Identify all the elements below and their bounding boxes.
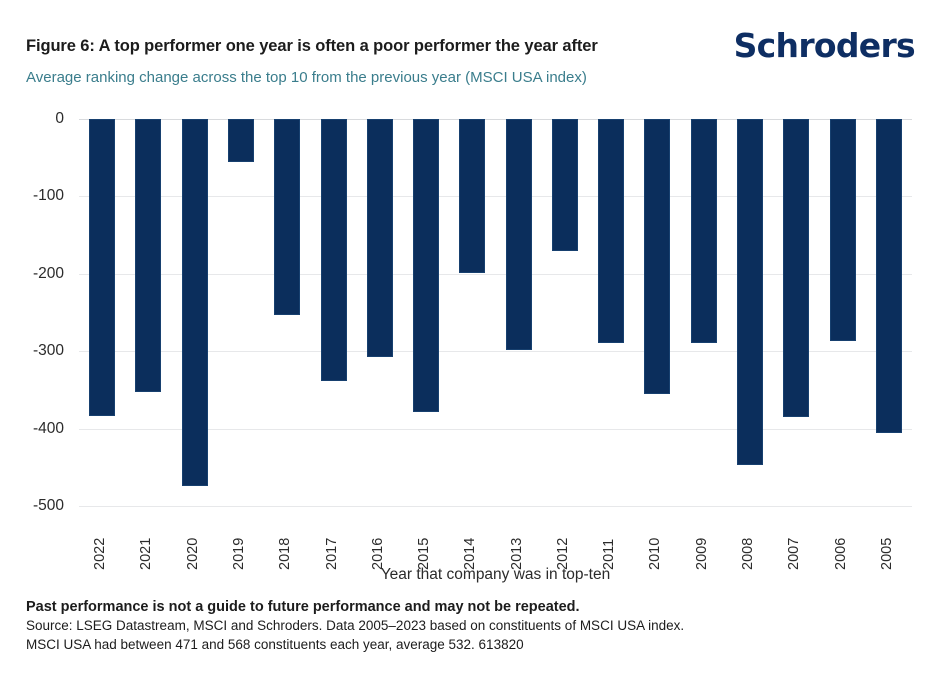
- bar-2021: [135, 119, 161, 392]
- bar-2015: [413, 119, 439, 412]
- bar-2013: [506, 119, 532, 350]
- bar-2009: [691, 119, 717, 343]
- bar-2006: [830, 119, 856, 341]
- y-axis-ticks: 0-100-200-300-400-500: [0, 119, 70, 506]
- plot-area: [79, 119, 912, 506]
- y-axis-tick-label: -200: [33, 265, 64, 283]
- figure-page: Figure 6: A top performer one year is of…: [0, 0, 939, 677]
- bar-2014: [459, 119, 485, 273]
- bar-2022: [89, 119, 115, 416]
- bar-2019: [228, 119, 254, 162]
- y-axis-tick-label: 0: [55, 110, 64, 128]
- y-axis-tick-label: -500: [33, 497, 64, 515]
- bar-2008: [737, 119, 763, 465]
- x-axis-ticks: 2022202120202019201820172016201520142013…: [79, 510, 912, 570]
- bar-2010: [644, 119, 670, 394]
- gridline: [79, 506, 912, 507]
- y-axis-tick-label: -300: [33, 342, 64, 360]
- bar-chart: 0-100-200-300-400-500 202220212020201920…: [0, 0, 939, 677]
- disclaimer-text: Past performance is not a guide to futur…: [26, 598, 916, 617]
- bar-2017: [321, 119, 347, 381]
- bar-2005: [876, 119, 902, 433]
- source-line-1: Source: LSEG Datastream, MSCI and Schrod…: [26, 617, 916, 636]
- y-axis-tick-label: -100: [33, 187, 64, 205]
- figure-footer: Past performance is not a guide to futur…: [26, 598, 916, 654]
- x-axis-title: Year that company was in top-ten: [79, 566, 912, 584]
- bar-2018: [274, 119, 300, 315]
- bar-2007: [783, 119, 809, 417]
- bar-2011: [598, 119, 624, 343]
- y-axis-tick-label: -400: [33, 420, 64, 438]
- bar-2012: [552, 119, 578, 251]
- source-line-2: MSCI USA had between 471 and 568 constit…: [26, 636, 916, 655]
- bar-2016: [367, 119, 393, 357]
- bar-2020: [182, 119, 208, 486]
